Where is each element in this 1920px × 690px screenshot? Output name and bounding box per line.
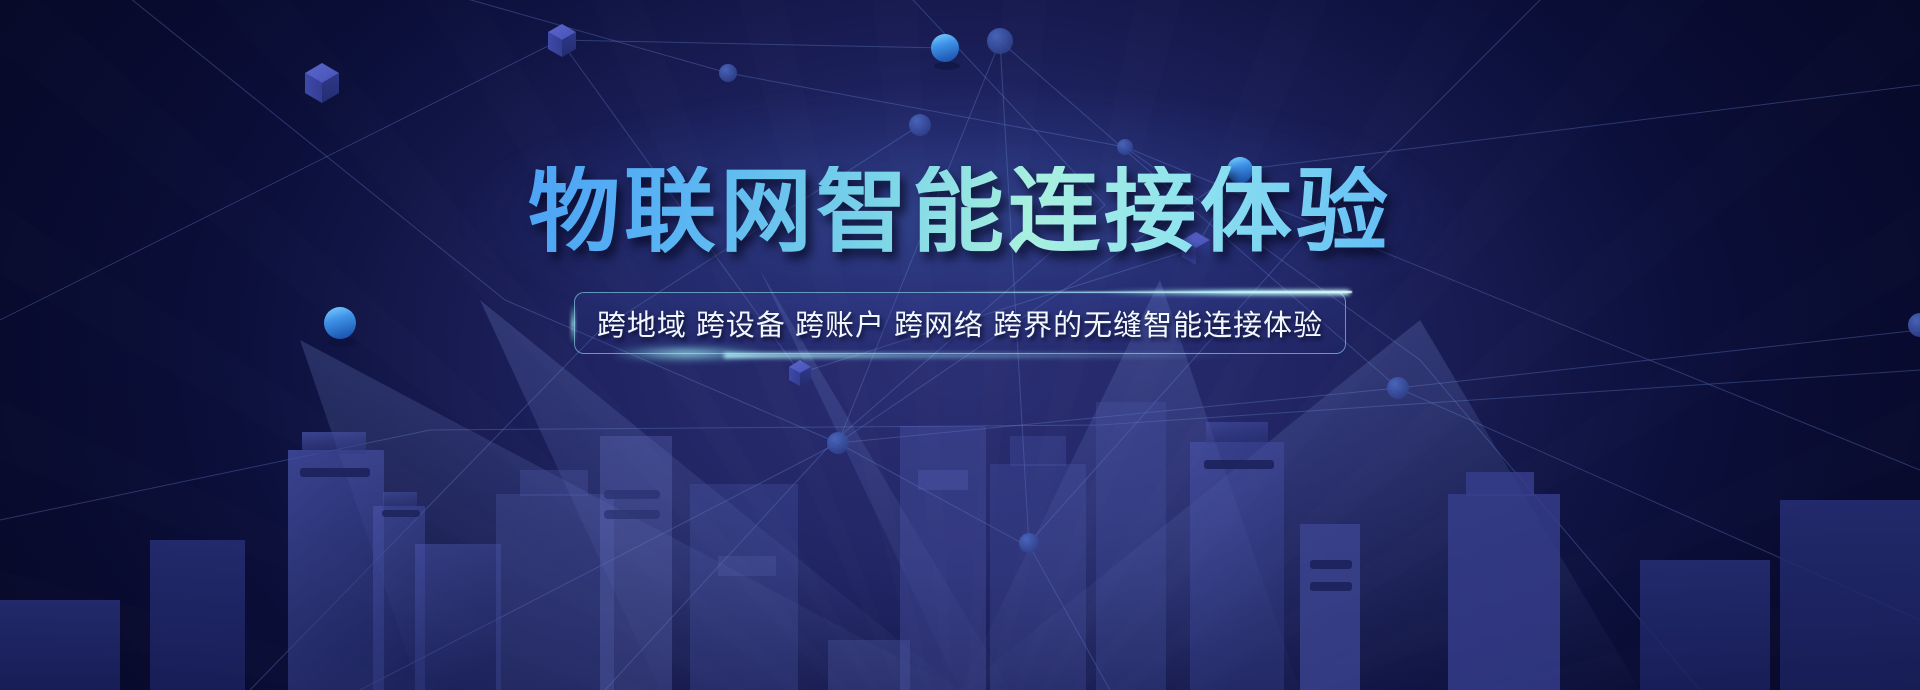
city-skyline bbox=[0, 402, 1920, 690]
banner-subtitle: 跨地域 跨设备 跨账户 跨网络 跨界的无缝智能连接体验 bbox=[597, 302, 1323, 344]
banner-subtitle-container: 跨地域 跨设备 跨账户 跨网络 跨界的无缝智能连接体验 bbox=[574, 292, 1346, 354]
banner-headline: 物联网智能连接体验 bbox=[528, 166, 1392, 258]
neon-line-top bbox=[922, 291, 1352, 293]
neon-highlight-left-edge bbox=[571, 304, 575, 344]
subtitle-outline-box: 跨地域 跨设备 跨账户 跨网络 跨界的无缝智能连接体验 bbox=[574, 292, 1346, 354]
banner-content: 物联网智能连接体验 跨地域 跨设备 跨账户 跨网络 跨界的无缝智能连接体验 bbox=[0, 0, 1920, 354]
neon-line-bottom bbox=[724, 353, 1244, 358]
iot-hero-banner: 物联网智能连接体验 跨地域 跨设备 跨账户 跨网络 跨界的无缝智能连接体验 bbox=[0, 0, 1920, 690]
